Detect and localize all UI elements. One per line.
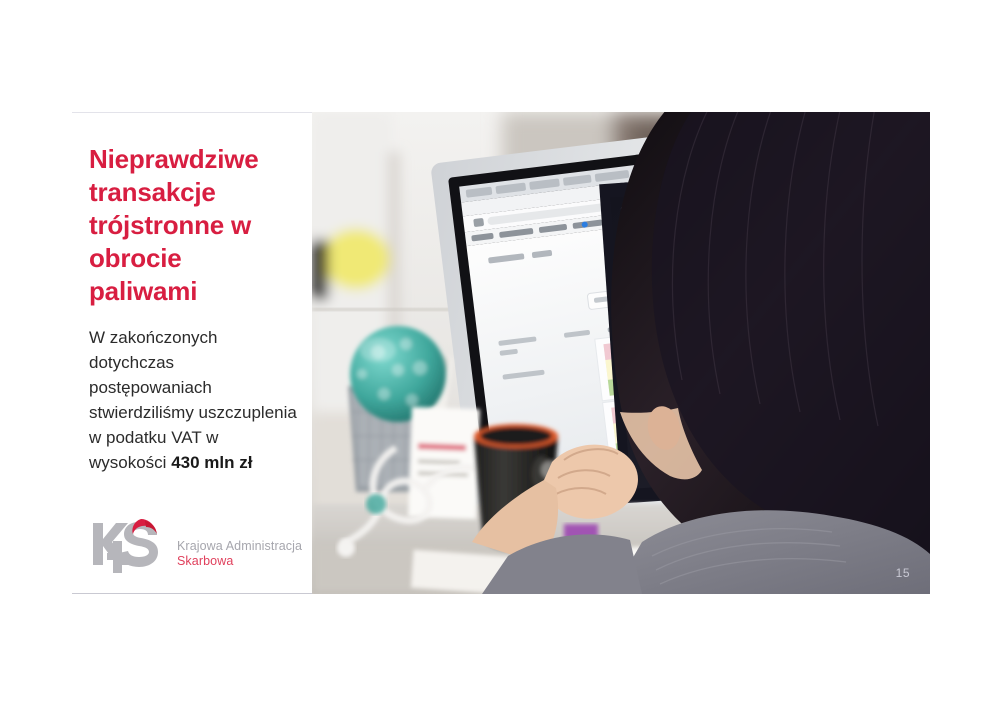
kas-logo-line2: Skarbowa <box>177 554 317 569</box>
page-title: Nieprawdziwe transakcje trójstronne w ob… <box>89 143 294 308</box>
kas-logo-text: Krajowa Administracja Skarbowa <box>177 539 317 569</box>
text-panel: Nieprawdziwe transakcje trójstronne w ob… <box>72 112 312 594</box>
body-text-lead: W zakończonych dotychczas postępowaniach… <box>89 328 297 472</box>
body-text: W zakończonych dotychczas postępowaniach… <box>89 325 299 475</box>
body-text-amount: 430 mln zł <box>171 453 252 472</box>
kas-logo-line1: Krajowa Administracja <box>177 539 317 554</box>
kas-logo: Krajowa Administracja Skarbowa <box>89 515 314 577</box>
page-number: 15 <box>896 566 910 580</box>
kas-monogram-icon <box>89 515 167 577</box>
slide-photo: 15 <box>312 112 930 594</box>
presentation-slide: Nieprawdziwe transakcje trójstronne w ob… <box>0 0 1000 708</box>
